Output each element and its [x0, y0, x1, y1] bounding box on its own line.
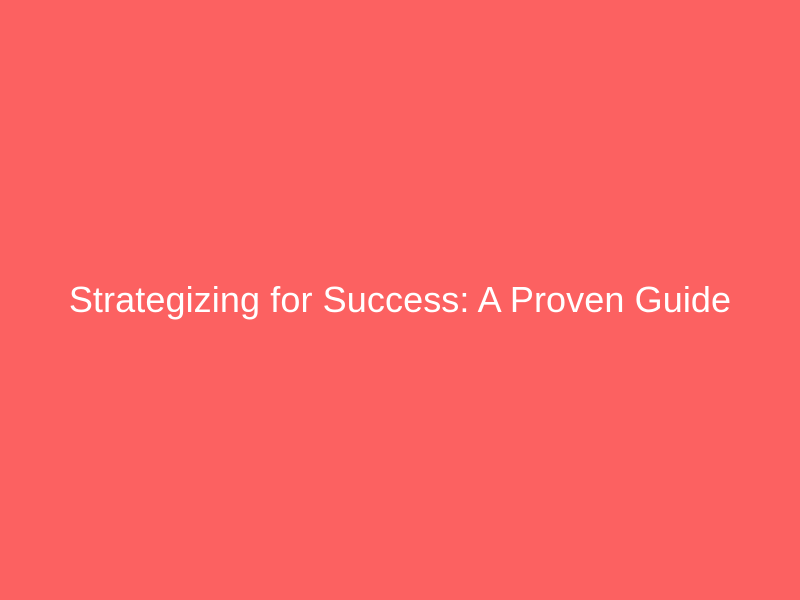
- title-banner: Strategizing for Success: A Proven Guide: [0, 0, 800, 600]
- page-title: Strategizing for Success: A Proven Guide: [45, 278, 755, 321]
